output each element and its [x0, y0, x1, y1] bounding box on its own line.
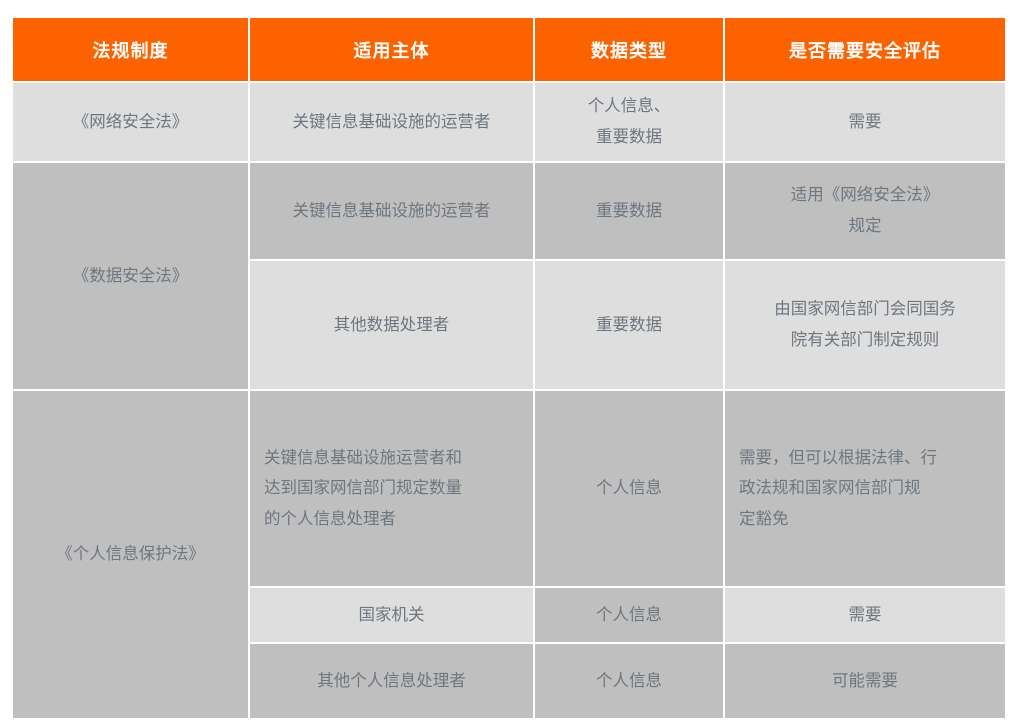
legal-comparison-table-container: 法规制度 适用主体 数据类型 是否需要安全评估 《网络安全法》 关键信息基础设施…	[11, 16, 1005, 706]
table-header: 法规制度 适用主体 数据类型 是否需要安全评估	[13, 18, 1005, 81]
cell-regulation-name: 《个人信息保护法》	[13, 391, 248, 718]
column-header-subject: 适用主体	[250, 18, 533, 81]
cell-assessment: 需要	[725, 83, 1005, 161]
legal-comparison-table: 法规制度 适用主体 数据类型 是否需要安全评估 《网络安全法》 关键信息基础设施…	[11, 16, 1007, 720]
table-row: 《数据安全法》 关键信息基础设施的运营者 重要数据 适用《网络安全法》规定	[13, 163, 1005, 259]
cell-subject: 国家机关	[250, 588, 533, 642]
cell-assessment: 由国家网信部门会同国务院有关部门制定规则	[725, 261, 1005, 389]
cell-subject: 关键信息基础设施运营者和达到国家网信部门规定数量的个人信息处理者	[250, 391, 533, 586]
cell-regulation-name: 《网络安全法》	[13, 83, 248, 161]
cell-subject: 关键信息基础设施的运营者	[250, 163, 533, 259]
cell-assessment: 适用《网络安全法》规定	[725, 163, 1005, 259]
cell-data-type: 重要数据	[535, 261, 723, 389]
cell-assessment: 可能需要	[725, 644, 1005, 718]
column-header-regulation: 法规制度	[13, 18, 248, 81]
cell-subject: 其他个人信息处理者	[250, 644, 533, 718]
column-header-data-type: 数据类型	[535, 18, 723, 81]
cell-data-type: 个人信息、重要数据	[535, 83, 723, 161]
cell-assessment: 需要	[725, 588, 1005, 642]
cell-subject: 其他数据处理者	[250, 261, 533, 389]
cell-data-type: 重要数据	[535, 163, 723, 259]
table-row: 《网络安全法》 关键信息基础设施的运营者 个人信息、重要数据 需要	[13, 83, 1005, 161]
column-header-assessment: 是否需要安全评估	[725, 18, 1005, 81]
cell-assessment: 需要，但可以根据法律、行政法规和国家网信部门规定豁免	[725, 391, 1005, 586]
table-row: 《个人信息保护法》 关键信息基础设施运营者和达到国家网信部门规定数量的个人信息处…	[13, 391, 1005, 586]
cell-subject: 关键信息基础设施的运营者	[250, 83, 533, 161]
cell-data-type: 个人信息	[535, 588, 723, 642]
cell-data-type: 个人信息	[535, 391, 723, 586]
cell-data-type: 个人信息	[535, 644, 723, 718]
cell-regulation-name: 《数据安全法》	[13, 163, 248, 389]
table-body: 《网络安全法》 关键信息基础设施的运营者 个人信息、重要数据 需要 《数据安全法…	[13, 83, 1005, 718]
table-header-row: 法规制度 适用主体 数据类型 是否需要安全评估	[13, 18, 1005, 81]
